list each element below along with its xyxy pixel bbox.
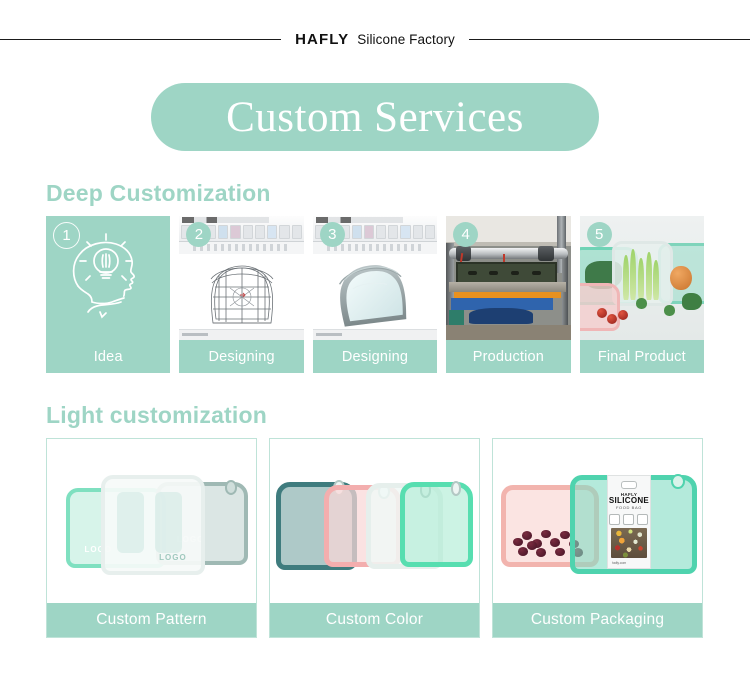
section-heading-light: Light customization <box>46 402 267 429</box>
deep-card-idea[interactable]: 1 Idea <box>46 216 170 373</box>
deep-card-label: Designing <box>179 340 303 373</box>
onion <box>670 266 691 291</box>
silicone-bag-mint-packaged: HAFLY SILICONE FOOD BAG hafly.com <box>570 475 697 574</box>
logo-print: LOGO <box>159 553 187 562</box>
deep-card-label: Production <box>446 340 570 373</box>
deep-card-designing-render[interactable]: 3 <box>313 216 437 373</box>
deep-card-production[interactable]: 4 Production <box>446 216 570 373</box>
silicone-bag-clear-front <box>612 241 673 307</box>
silicone-bag-green <box>400 482 473 567</box>
section-heading-deep: Deep Customization <box>46 180 271 207</box>
light-card-label: Custom Color <box>270 603 479 637</box>
tomato <box>618 310 628 320</box>
insert-food-photo <box>611 528 647 558</box>
insert-subtitle: FOOD BAG <box>608 505 650 510</box>
broccoli <box>682 293 702 310</box>
deep-card-label: Designing <box>313 340 437 373</box>
deep-card-final-product[interactable]: 5 Final Product <box>580 216 704 373</box>
cad-feature-tree-strip <box>193 244 289 251</box>
tomato <box>607 314 617 324</box>
machine-green-part <box>449 310 464 325</box>
light-customization-row: LOGO LOGO LOGO Custom Pattern Custom Col… <box>46 438 704 638</box>
custom-packaging-photo: HAFLY SILICONE FOOD BAG hafly.com <box>493 439 702 603</box>
machine-blue-drum <box>469 308 534 324</box>
light-card-custom-packaging[interactable]: HAFLY SILICONE FOOD BAG hafly.com Custom… <box>492 438 703 638</box>
factory-floor <box>446 325 570 340</box>
light-card-custom-color[interactable]: Custom Color <box>269 438 480 638</box>
step-badge-1: 1 <box>53 222 80 249</box>
divider-line-right <box>469 39 750 40</box>
brand-tagline: Silicone Factory <box>357 32 455 47</box>
tomato <box>597 308 607 318</box>
bag-snap-stud <box>225 480 237 495</box>
retail-packaging-insert: HAFLY SILICONE FOOD BAG hafly.com <box>607 475 651 569</box>
divider-line-left <box>0 39 281 40</box>
cad-canvas <box>179 254 303 330</box>
insert-footnote: hafly.com <box>608 561 650 568</box>
cad-feature-tree-strip <box>327 244 423 251</box>
deep-customization-row: 1 Idea 2 <box>46 216 704 373</box>
light-card-label: Custom Packaging <box>493 603 702 637</box>
cad-status-bar <box>179 329 303 340</box>
broccoli <box>636 298 647 309</box>
hang-hole <box>621 481 637 489</box>
brand-name: HAFLY <box>295 31 349 48</box>
deep-card-label: Final Product <box>580 340 704 373</box>
silicone-bag-clear: LOGO <box>101 475 205 575</box>
light-card-custom-pattern[interactable]: LOGO LOGO LOGO Custom Pattern <box>46 438 257 638</box>
brand-bar: HAFLY Silicone Factory <box>0 28 750 50</box>
custom-color-photo <box>270 439 479 603</box>
machine-rail <box>449 248 568 259</box>
deep-card-designing-wireframe[interactable]: 2 <box>179 216 303 373</box>
cad-status-bar <box>313 329 437 340</box>
insert-feature-icons <box>608 514 650 525</box>
bag-snap-stud <box>671 474 686 490</box>
custom-pattern-photo: LOGO LOGO LOGO <box>47 439 256 603</box>
light-card-label: Custom Pattern <box>47 603 256 637</box>
cad-canvas <box>313 254 437 330</box>
hero-banner: Custom Services <box>151 83 599 151</box>
broccoli <box>664 305 675 316</box>
machine-frame-right <box>562 253 568 330</box>
machine-plate <box>449 282 566 292</box>
page-title: Custom Services <box>226 96 524 139</box>
insert-title: SILICONE <box>608 497 650 505</box>
step-badge-3: 3 <box>320 222 345 247</box>
silicone-bag-pink <box>580 283 621 331</box>
step-badge-5: 5 <box>587 222 612 247</box>
deep-card-label: Idea <box>46 340 170 373</box>
